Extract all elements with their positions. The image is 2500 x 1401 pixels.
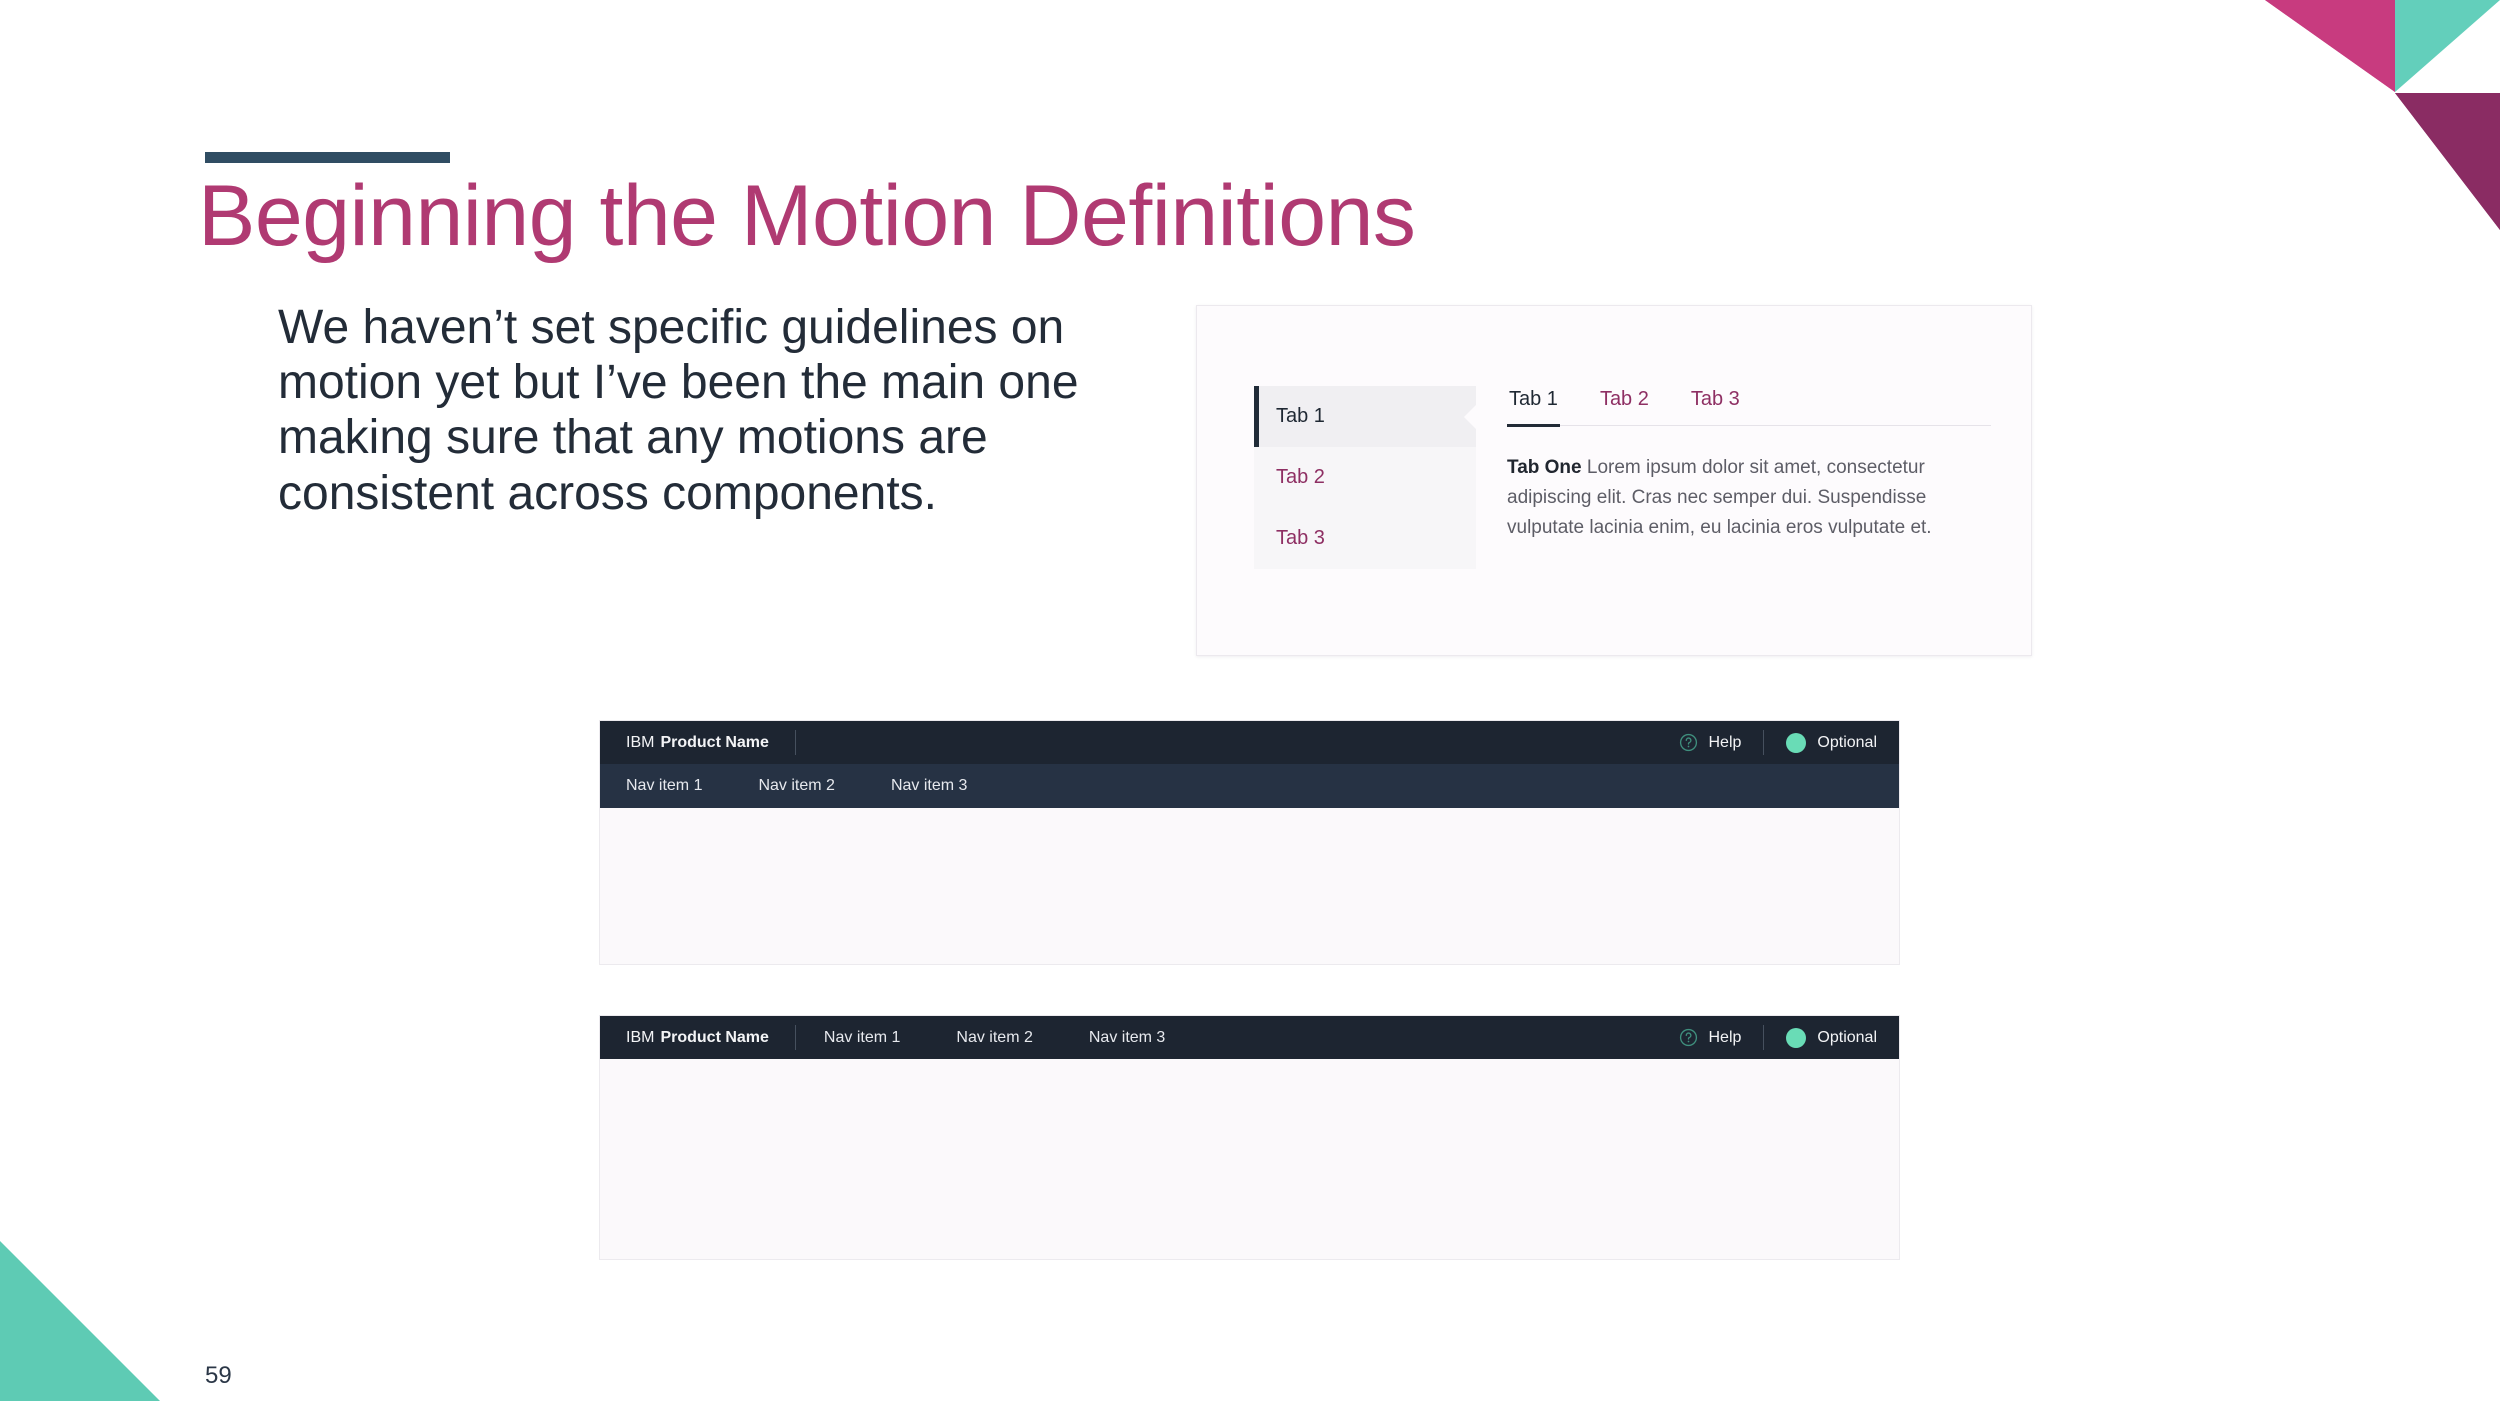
horizontal-tabs-list: Tab 1 Tab 2 Tab 3: [1507, 386, 1991, 426]
nav-mockup-1-brand[interactable]: IBM Product Name: [600, 721, 795, 764]
page-number: 59: [205, 1362, 232, 1390]
horizontal-tabs-region: Tab 1 Tab 2 Tab 3 Tab One Lorem ipsum do…: [1507, 386, 1991, 543]
nav-mockup-1-brand-name: Product Name: [660, 734, 768, 752]
nav-mockup-2-brand[interactable]: IBM Product Name: [600, 1016, 795, 1059]
nav-mockup-1-nav-item-1[interactable]: Nav item 1: [600, 777, 730, 795]
nav-mockup-2-nav-item-1[interactable]: Nav item 1: [796, 1029, 928, 1047]
nav-mockup-1-header-actions: Help Optional: [1657, 721, 1900, 764]
nav-mockup-1-brand-prefix: IBM: [626, 734, 654, 752]
horizontal-tab-3[interactable]: Tab 3: [1689, 386, 1742, 427]
nav-mockup-1-subnav: Nav item 1 Nav item 2 Nav item 3: [600, 764, 1899, 808]
tab-panel-heading: Tab One: [1507, 457, 1582, 478]
title-rule: [205, 152, 450, 163]
nav-mockup-1-optional-action[interactable]: Optional: [1764, 733, 1899, 753]
top-right-corner-decoration: [2230, 0, 2500, 230]
vertical-tab-3[interactable]: Tab 3: [1254, 508, 1476, 569]
tab-panel-content: Tab One Lorem ipsum dolor sit amet, cons…: [1507, 453, 1977, 543]
help-circle-icon: [1679, 1028, 1698, 1047]
nav-mockup-2-brand-prefix: IBM: [626, 1029, 654, 1047]
vertical-tab-1-label: Tab 1: [1276, 405, 1325, 428]
nav-mockup-2-body: [600, 1059, 1899, 1259]
horizontal-tab-2[interactable]: Tab 2: [1598, 386, 1651, 427]
nav-mockup-2-optional-action[interactable]: Optional: [1764, 1028, 1899, 1048]
vertical-tabs-list: Tab 1 Tab 2 Tab 3: [1254, 386, 1476, 569]
nav-mockup-2-nav-items: Nav item 1 Nav item 2 Nav item 3: [796, 1016, 1193, 1059]
slide-canvas: Beginning the Motion Definitions We have…: [0, 0, 2500, 1401]
vertical-tab-2[interactable]: Tab 2: [1254, 447, 1476, 508]
vertical-tab-2-label: Tab 2: [1276, 466, 1325, 489]
nav-mockup-2-nav-item-2[interactable]: Nav item 2: [928, 1029, 1060, 1047]
nav-mockup-1-nav-items: Nav item 1 Nav item 2 Nav item 3: [600, 764, 995, 808]
vertical-tab-3-label: Tab 3: [1276, 527, 1325, 550]
nav-mockup-2-nav-item-3[interactable]: Nav item 3: [1061, 1029, 1193, 1047]
body-paragraph: We haven’t set specific guidelines on mo…: [278, 300, 1108, 521]
bottom-left-corner-decoration: [0, 1201, 200, 1401]
page-title: Beginning the Motion Definitions: [198, 170, 1415, 263]
nav-mockup-2-header: IBM Product Name Nav item 1 Nav item 2 N…: [600, 1016, 1899, 1059]
help-circle-icon: [1679, 733, 1698, 752]
nav-mockup-single-row: IBM Product Name Nav item 1 Nav item 2 N…: [599, 1015, 1900, 1260]
horizontal-tab-3-label: Tab 3: [1691, 388, 1740, 410]
avatar-circle-icon: [1786, 1028, 1806, 1048]
nav-mockup-2-help-action[interactable]: Help: [1657, 1028, 1764, 1047]
nav-mockup-1-optional-label: Optional: [1817, 734, 1877, 752]
tabs-demo-inner: Tab 1 Tab 2 Tab 3 Tab 1 Tab 2: [1254, 386, 1991, 615]
horizontal-tab-2-label: Tab 2: [1600, 388, 1649, 410]
tabs-demo-card: Tab 1 Tab 2 Tab 3 Tab 1 Tab 2: [1196, 305, 2032, 656]
horizontal-tab-1-label: Tab 1: [1509, 388, 1558, 410]
nav-mockup-1-nav-item-3[interactable]: Nav item 3: [863, 777, 995, 795]
nav-mockup-2-brand-name: Product Name: [660, 1029, 768, 1047]
horizontal-tab-1[interactable]: Tab 1: [1507, 386, 1560, 427]
nav-mockup-two-row: IBM Product Name Help Optional: [599, 720, 1900, 965]
vertical-tab-1[interactable]: Tab 1: [1254, 386, 1476, 447]
nav-mockup-2-optional-label: Optional: [1817, 1029, 1877, 1047]
nav-mockup-1-header: IBM Product Name Help Optional: [600, 721, 1899, 764]
nav-mockup-2-header-actions: Help Optional: [1657, 1016, 1900, 1059]
avatar-circle-icon: [1786, 733, 1806, 753]
nav-mockup-1-body: [600, 808, 1899, 965]
nav-mockup-2-help-label: Help: [1709, 1029, 1742, 1047]
nav-mockup-1-brand-divider: [795, 730, 796, 755]
nav-mockup-1-help-action[interactable]: Help: [1657, 733, 1764, 752]
nav-mockup-1-help-label: Help: [1709, 734, 1742, 752]
nav-mockup-1-nav-item-2[interactable]: Nav item 2: [730, 777, 862, 795]
